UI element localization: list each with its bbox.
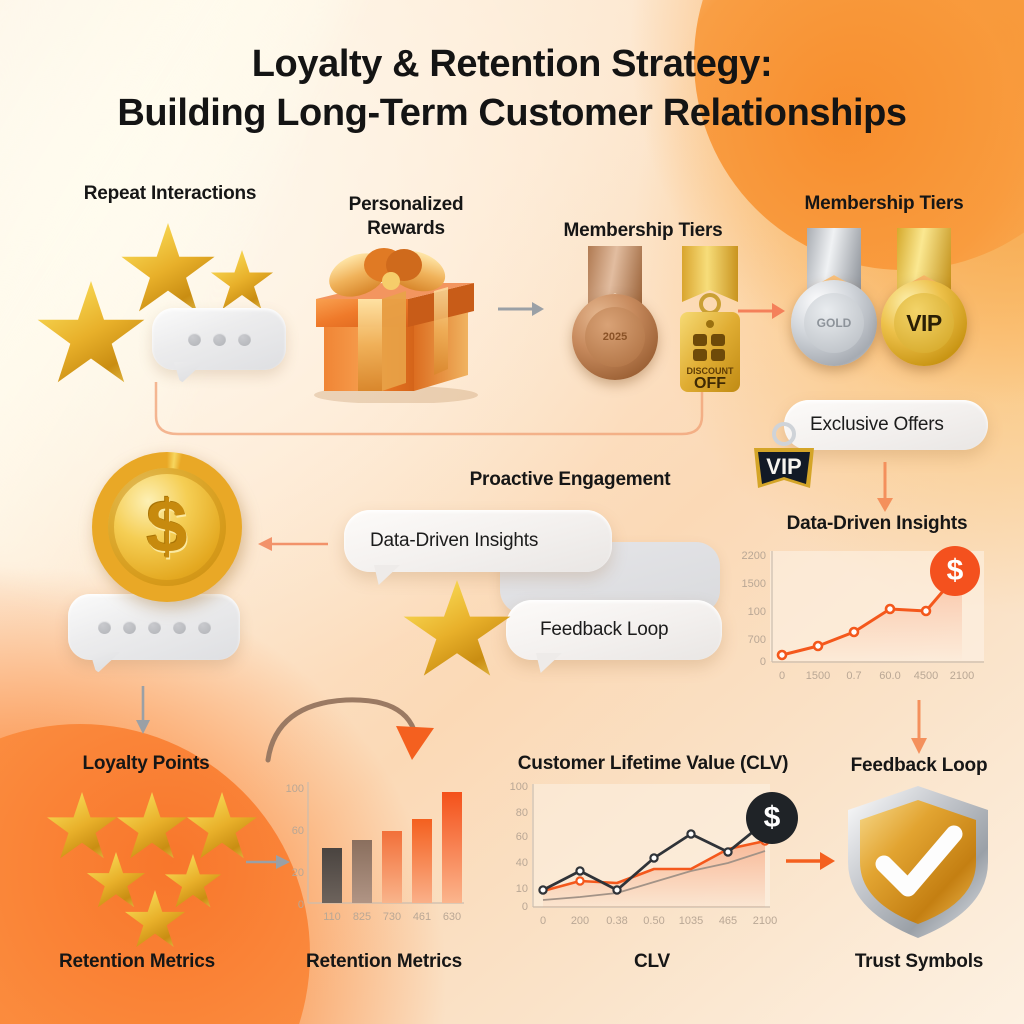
curved-arrow-icon <box>262 686 452 766</box>
star-icon <box>116 792 188 864</box>
chat-bubble-5dots <box>68 594 240 660</box>
infographic-canvas: Loyalty & Retention Strategy: Building L… <box>0 0 1024 1024</box>
svg-text:465: 465 <box>719 915 737 927</box>
svg-text:100: 100 <box>510 781 528 793</box>
svg-text:700: 700 <box>748 634 766 646</box>
svg-text:20: 20 <box>292 867 304 879</box>
dot-icon <box>188 333 201 346</box>
arrow-down-icon <box>132 686 154 738</box>
svg-text:0.50: 0.50 <box>643 915 664 927</box>
svg-text:100: 100 <box>286 783 304 795</box>
vip-tag-label: VIP <box>766 454 801 479</box>
svg-text:2200: 2200 <box>742 550 766 562</box>
dot-icon <box>238 333 251 346</box>
vip-tag-icon: VIP <box>744 418 824 498</box>
label-clv-bottom: CLV <box>592 950 712 974</box>
label-trust-symbols: Trust Symbols <box>824 950 1014 974</box>
star-icon <box>210 250 274 314</box>
dot-icon <box>213 333 226 346</box>
svg-text:60: 60 <box>292 825 304 837</box>
chat-bubble-3dots <box>152 308 286 370</box>
label-repeat-interactions: Repeat Interactions <box>46 182 294 206</box>
svg-text:0.38: 0.38 <box>606 915 627 927</box>
label-retention-metrics-left: Retention Metrics <box>28 950 246 974</box>
svg-text:100: 100 <box>748 606 766 618</box>
svg-text:2100: 2100 <box>753 915 777 927</box>
title-line-1: Loyalty & Retention Strategy: <box>252 43 772 85</box>
arrow-down-icon <box>908 700 930 756</box>
dot-icon <box>98 621 111 634</box>
svg-text:80: 80 <box>516 807 528 819</box>
svg-text:60: 60 <box>516 831 528 843</box>
title-line-2: Building Long-Term Customer Relationship… <box>0 89 1024 138</box>
svg-text:0: 0 <box>540 915 546 927</box>
gift-box-icon <box>296 243 492 403</box>
clv-chart: 10080 6040 100 0200 0.380.50 1035465 210… <box>500 776 792 940</box>
star-icon <box>124 890 186 952</box>
vip-medal-text: VIP <box>894 293 954 353</box>
star-icon <box>46 792 118 864</box>
star-icon <box>164 854 222 912</box>
bubble-feedback-loop-label: Feedback Loop <box>540 619 668 641</box>
retention-bar-chart: 10060 200 110825 730461 630 <box>278 772 490 932</box>
label-membership-tiers-right: Membership Tiers <box>778 192 990 216</box>
label-personalized-rewards: Personalized Rewards <box>320 193 492 241</box>
bronze-medal-text: 2025 <box>585 307 645 367</box>
svg-text:630: 630 <box>443 911 461 923</box>
label-retention-metrics-center: Retention Metrics <box>274 950 494 974</box>
label-data-driven-insights-right: Data-Driven Insights <box>752 512 1002 536</box>
svg-text:0: 0 <box>522 901 528 913</box>
star-icon <box>86 852 146 912</box>
star-icon <box>402 580 512 684</box>
svg-text:200: 200 <box>571 915 589 927</box>
label-loyalty-points: Loyalty Points <box>46 752 246 776</box>
dollar-symbol: $ <box>108 468 226 586</box>
label-proactive-engagement: Proactive Engagement <box>420 468 720 492</box>
bubble-feedback-loop[interactable]: Feedback Loop <box>506 600 722 660</box>
bubble-data-driven-insights-label: Data-Driven Insights <box>370 530 538 552</box>
svg-text:10: 10 <box>516 883 528 895</box>
svg-text:110: 110 <box>323 911 341 923</box>
gold-vip-medal-icon: VIP <box>866 228 982 388</box>
dollar-symbol: $ <box>947 554 964 588</box>
svg-text:2100: 2100 <box>950 670 974 682</box>
label-customer-lifetime-value: Customer Lifetime Value (CLV) <box>500 752 806 776</box>
svg-text:4500: 4500 <box>914 670 938 682</box>
svg-text:0: 0 <box>760 656 766 668</box>
dot-icon <box>123 621 136 634</box>
svg-text:0: 0 <box>298 899 304 911</box>
label-membership-tiers-left: Membership Tiers <box>540 219 746 243</box>
dollar-symbol: $ <box>764 801 781 835</box>
svg-text:730: 730 <box>383 911 401 923</box>
bubble-exclusive-offers-label: Exclusive Offers <box>810 414 944 436</box>
dot-icon <box>198 621 211 634</box>
dollar-pin-insights: $ <box>930 546 980 596</box>
trust-shield-icon <box>840 782 996 942</box>
discount-tag-line2: OFF <box>694 375 726 392</box>
dot-icon <box>173 621 186 634</box>
discount-tag-icon: DISCOUNT OFF <box>666 246 754 398</box>
svg-text:1500: 1500 <box>806 670 830 682</box>
svg-text:40: 40 <box>516 857 528 869</box>
bubble-data-driven-insights[interactable]: Data-Driven Insights <box>344 510 612 572</box>
arrow-right-icon <box>246 852 292 872</box>
svg-text:825: 825 <box>353 911 371 923</box>
silver-medal-text: GOLD <box>804 293 864 353</box>
dollar-coin-badge-icon: $ <box>92 452 242 602</box>
dot-icon <box>148 621 161 634</box>
svg-text:0.7: 0.7 <box>846 670 861 682</box>
bronze-medal-icon: 2025 <box>560 246 670 396</box>
page-title: Loyalty & Retention Strategy: Building L… <box>0 40 1024 137</box>
arrow-right-icon <box>738 300 786 322</box>
svg-text:1500: 1500 <box>742 578 766 590</box>
label-feedback-loop-right: Feedback Loop <box>824 754 1014 778</box>
arrow-down-icon <box>874 462 896 514</box>
svg-text:60.0: 60.0 <box>879 670 900 682</box>
svg-text:0: 0 <box>779 670 785 682</box>
svg-text:1035: 1035 <box>679 915 703 927</box>
star-icon <box>120 223 216 319</box>
arrow-left-icon <box>256 533 328 555</box>
arrow-right-icon <box>498 298 546 320</box>
svg-text:461: 461 <box>413 911 431 923</box>
star-icon <box>36 281 146 391</box>
arrow-right-icon <box>786 850 836 872</box>
dollar-pin-clv: $ <box>746 792 798 844</box>
